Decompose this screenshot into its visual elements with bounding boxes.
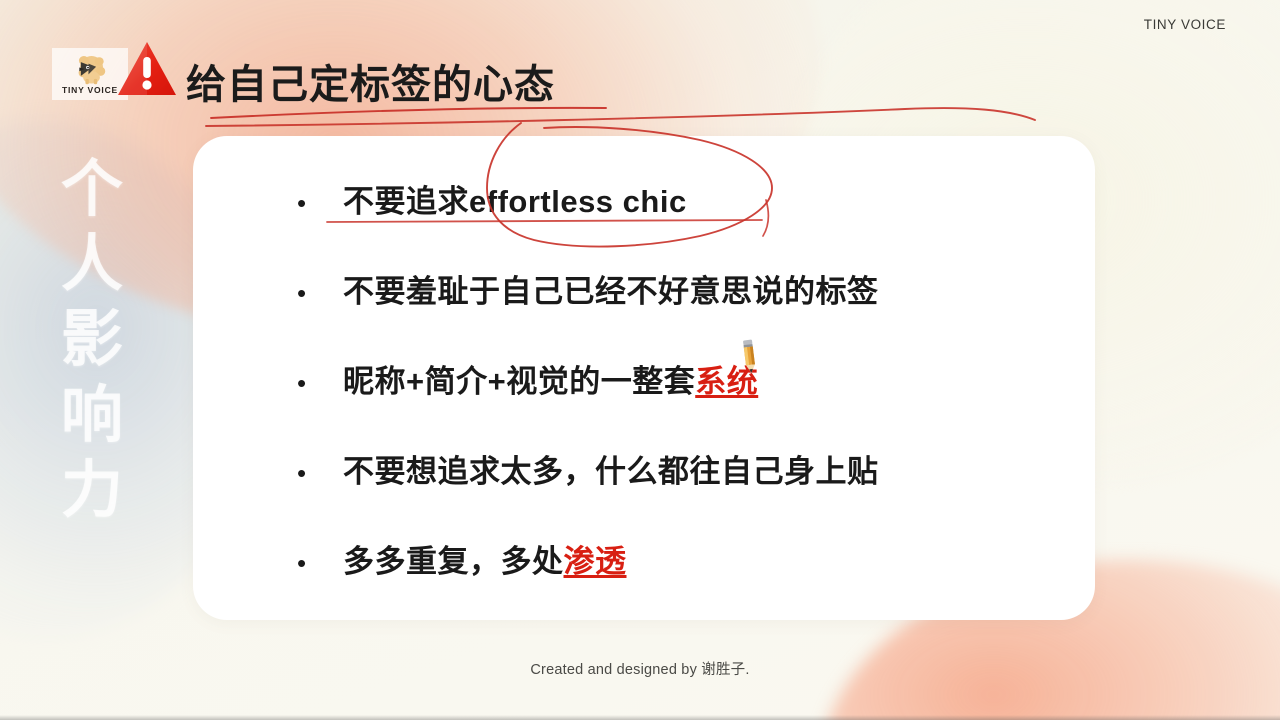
logo-caption: TINY VOICE <box>62 86 118 95</box>
bullet-marker: • <box>297 190 343 216</box>
bullet-marker: • <box>297 550 343 576</box>
list-item: • 昵称+简介+视觉的一整套系统 <box>297 356 1069 446</box>
bullet-text: 昵称+简介+视觉的一整套系统 <box>343 356 758 401</box>
footer-credit: Created and designed by 谢胜子. <box>0 658 1280 679</box>
bullet-text: 不要追求effortless chic <box>343 176 687 221</box>
bullet-segment: 不要羞耻于自己已经不好意思说的标签 <box>343 274 879 309</box>
warning-triangle-icon <box>116 38 178 100</box>
bullet-segment: 不要想追求太多，什么都往自己身上贴 <box>343 454 879 489</box>
bullet-text: 多多重复，多处渗透 <box>343 536 627 581</box>
bullet-segment: 多多重复，多处 <box>343 544 564 579</box>
bullet-marker: • <box>297 460 343 486</box>
watermark-char-1: 个 <box>61 158 123 221</box>
title-underline-stroke-2 <box>206 108 1035 126</box>
list-item: • 不要羞耻于自己已经不好意思说的标签 <box>297 266 1069 356</box>
bullet-marker: • <box>297 280 343 306</box>
bottom-edge-shadow <box>0 715 1280 720</box>
watermark-char-4: 响 <box>61 384 123 447</box>
bullet-segment: 不要追求effortless chic <box>343 184 687 219</box>
bullet-text: 不要羞耻于自己已经不好意思说的标签 <box>343 266 879 311</box>
vertical-watermark: 个 人 影 响 力 <box>52 158 132 522</box>
brand-label-topright: TINY VOICE <box>1144 17 1226 32</box>
watermark-char-3: 影 <box>61 308 123 371</box>
list-item: • 不要追求effortless chic <box>297 176 1069 266</box>
list-item: • 多多重复，多处渗透 <box>297 536 1069 626</box>
page-title: 给自己定标签的心态 <box>186 52 555 110</box>
bullet-segment-highlight: 渗透 <box>564 544 627 579</box>
slide-canvas: 个 人 影 响 力 TINY VOICE TINY VO <box>0 0 1280 720</box>
lion-mascot-icon <box>70 53 110 85</box>
watermark-char-2: 人 <box>61 233 123 296</box>
bullet-marker: • <box>297 370 343 396</box>
bullet-segment-highlight: 系统 <box>695 364 758 399</box>
list-item: • 不要想追求太多，什么都往自己身上贴 <box>297 446 1069 536</box>
content-card: • 不要追求effortless chic • 不要羞耻于自己已经不好意思说的标… <box>193 136 1095 620</box>
watermark-char-5: 力 <box>61 459 123 522</box>
bullet-list: • 不要追求effortless chic • 不要羞耻于自己已经不好意思说的标… <box>297 176 1069 626</box>
bullet-segment: 昵称+简介+视觉的一整套 <box>343 364 695 399</box>
bullet-text: 不要想追求太多，什么都往自己身上贴 <box>343 446 879 491</box>
